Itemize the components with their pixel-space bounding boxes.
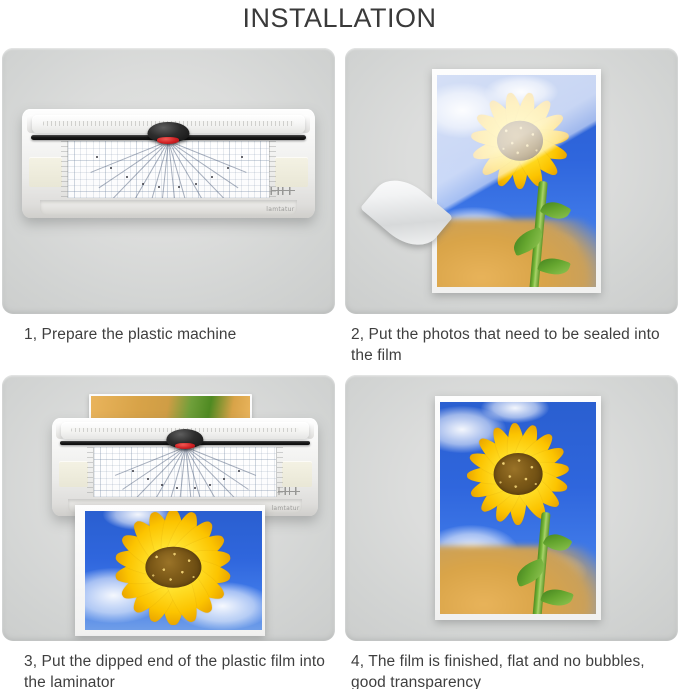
sunflower-head <box>459 87 580 193</box>
sunflower-head <box>92 511 254 631</box>
step-1-caption: 1, Prepare the plastic machine <box>2 324 335 345</box>
sunflower-head <box>454 419 582 530</box>
laminator-brand-label: lamtatur <box>271 505 299 512</box>
step-2-image-panel <box>345 48 678 314</box>
step-4-caption: 4, The film is finished, flat and no bub… <box>345 651 678 689</box>
step-4: 4, The film is finished, flat and no bub… <box>345 375 678 689</box>
laminator-pad-right <box>275 157 307 186</box>
sunflower-photo-step2 <box>437 75 596 288</box>
ruler-scale-left <box>87 447 93 498</box>
laminator-pad-right <box>282 461 311 488</box>
step-1-image-panel: lamtatur <box>2 48 335 314</box>
step-3: lamtatur <box>2 375 335 689</box>
page-title: INSTALLATION <box>0 0 679 42</box>
sunflower-photo-step3 <box>85 511 261 631</box>
step-3-image-panel: lamtatur <box>2 375 335 641</box>
cutter-blade-red <box>158 137 180 144</box>
cutting-mat <box>93 447 277 498</box>
step-1: lamtatur 1, Prepare the plastic machine <box>2 48 335 345</box>
step-2-caption: 2, Put the photos that need to be sealed… <box>345 324 678 366</box>
installation-infographic: INSTALLATION <box>0 0 679 689</box>
sunflower-disc <box>494 453 543 495</box>
laminator-pad-left <box>29 157 61 186</box>
sunflower-disc <box>497 120 543 160</box>
laminator-marking-icon <box>276 487 305 495</box>
laminator-machine-illustration: lamtatur <box>22 109 315 218</box>
laminator-marking-icon <box>268 187 300 196</box>
step-4-image-panel <box>345 375 678 641</box>
steps-grid: lamtatur 1, Prepare the plastic machine <box>2 48 677 688</box>
step-2: 2, Put the photos that need to be sealed… <box>345 48 678 366</box>
laminator-front-lip <box>40 200 298 215</box>
ruler-scale-left <box>61 141 68 197</box>
laminator-brand-label: lamtatur <box>266 206 294 213</box>
laminator-pad-left <box>59 461 88 488</box>
sunflower-photo-step4 <box>440 402 597 615</box>
sunflower-disc <box>146 547 201 588</box>
step-3-caption: 3, Put the dipped end of the plastic fil… <box>2 651 335 689</box>
cutting-mat <box>67 141 269 197</box>
laminator-machine-illustration-step3: lamtatur <box>52 418 318 516</box>
